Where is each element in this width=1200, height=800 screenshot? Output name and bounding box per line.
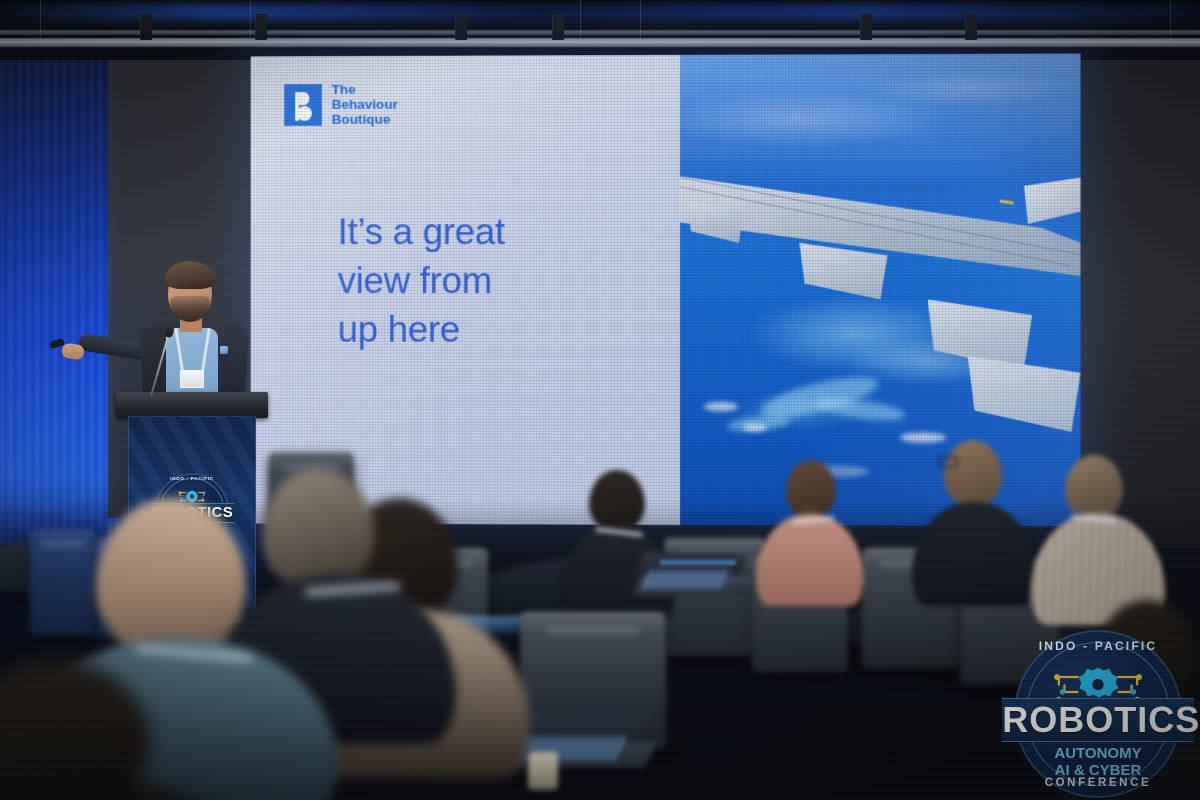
ceiling-panel-divider — [40, 0, 41, 38]
badge-arc-bottom: CONFERENCE — [1014, 777, 1182, 789]
ceiling-panel-divider — [640, 0, 641, 38]
ceiling-rig — [0, 0, 1200, 60]
headline-line-3: up here — [338, 305, 505, 354]
behaviour-boutique-b-logo-icon — [284, 84, 322, 126]
ceiling-panel-divider — [580, 0, 581, 38]
cloud — [900, 433, 946, 443]
ceiling-panel-divider — [1170, 0, 1171, 38]
head — [589, 470, 645, 532]
head — [1065, 455, 1123, 519]
ceiling-truss-front — [0, 38, 1200, 47]
badge-wordmark: ROBOTICS — [1002, 698, 1194, 742]
brand-name: The Behaviour Boutique — [332, 82, 398, 127]
badge-arc-top: INDO - PACIFIC — [155, 476, 229, 481]
laptop-keyboard — [642, 570, 733, 589]
rig-hanger — [860, 14, 872, 40]
rig-hanger — [552, 14, 564, 40]
slide-headline: It’s a great view from up here — [338, 207, 505, 354]
speaker-name-badge — [180, 370, 204, 388]
ceiling-panel-divider — [250, 0, 251, 38]
robotics-badge-large: INDO - PACIFIC — [1014, 630, 1182, 798]
laptop-mid-table — [640, 552, 744, 596]
conference-logo-watermark: INDO - PACIFIC — [1002, 636, 1192, 796]
chair — [30, 530, 96, 634]
slide-photo-airplane-wing: AIRBUS — [680, 54, 1081, 527]
glasses-icon — [938, 456, 958, 468]
jacket-pin — [220, 346, 228, 354]
brand-line-2: Behaviour — [332, 97, 398, 112]
cloud — [704, 402, 738, 411]
laptop-screen-glow — [660, 560, 736, 565]
brand-line-1: The — [332, 82, 356, 97]
headline-line-1: It’s a great — [338, 207, 505, 256]
headline-line-2: view from — [338, 256, 505, 305]
cloud — [743, 424, 767, 431]
badge-subtitle: AUTONOMY AI & CYBER — [1014, 746, 1182, 780]
paper-cup — [528, 752, 558, 790]
brand-line-3: Boutique — [332, 112, 391, 127]
badge-subtitle-1: AUTONOMY — [1054, 745, 1141, 762]
rig-hanger — [455, 14, 467, 40]
head — [944, 440, 1002, 506]
rig-hanger — [140, 14, 152, 40]
ceiling-accent-light — [0, 4, 1200, 20]
badge-arc-top: INDO - PACIFIC — [1014, 639, 1182, 653]
conference-photo-scene: The Behaviour Boutique It’s a great view… — [0, 0, 1200, 800]
ceiling-truss-back — [0, 30, 1200, 35]
rig-hanger — [255, 14, 267, 40]
rig-hanger — [965, 14, 977, 40]
lectern-top-surface — [116, 392, 268, 418]
reef-shape — [815, 394, 907, 425]
slide-brand-logo: The Behaviour Boutique — [284, 82, 398, 127]
